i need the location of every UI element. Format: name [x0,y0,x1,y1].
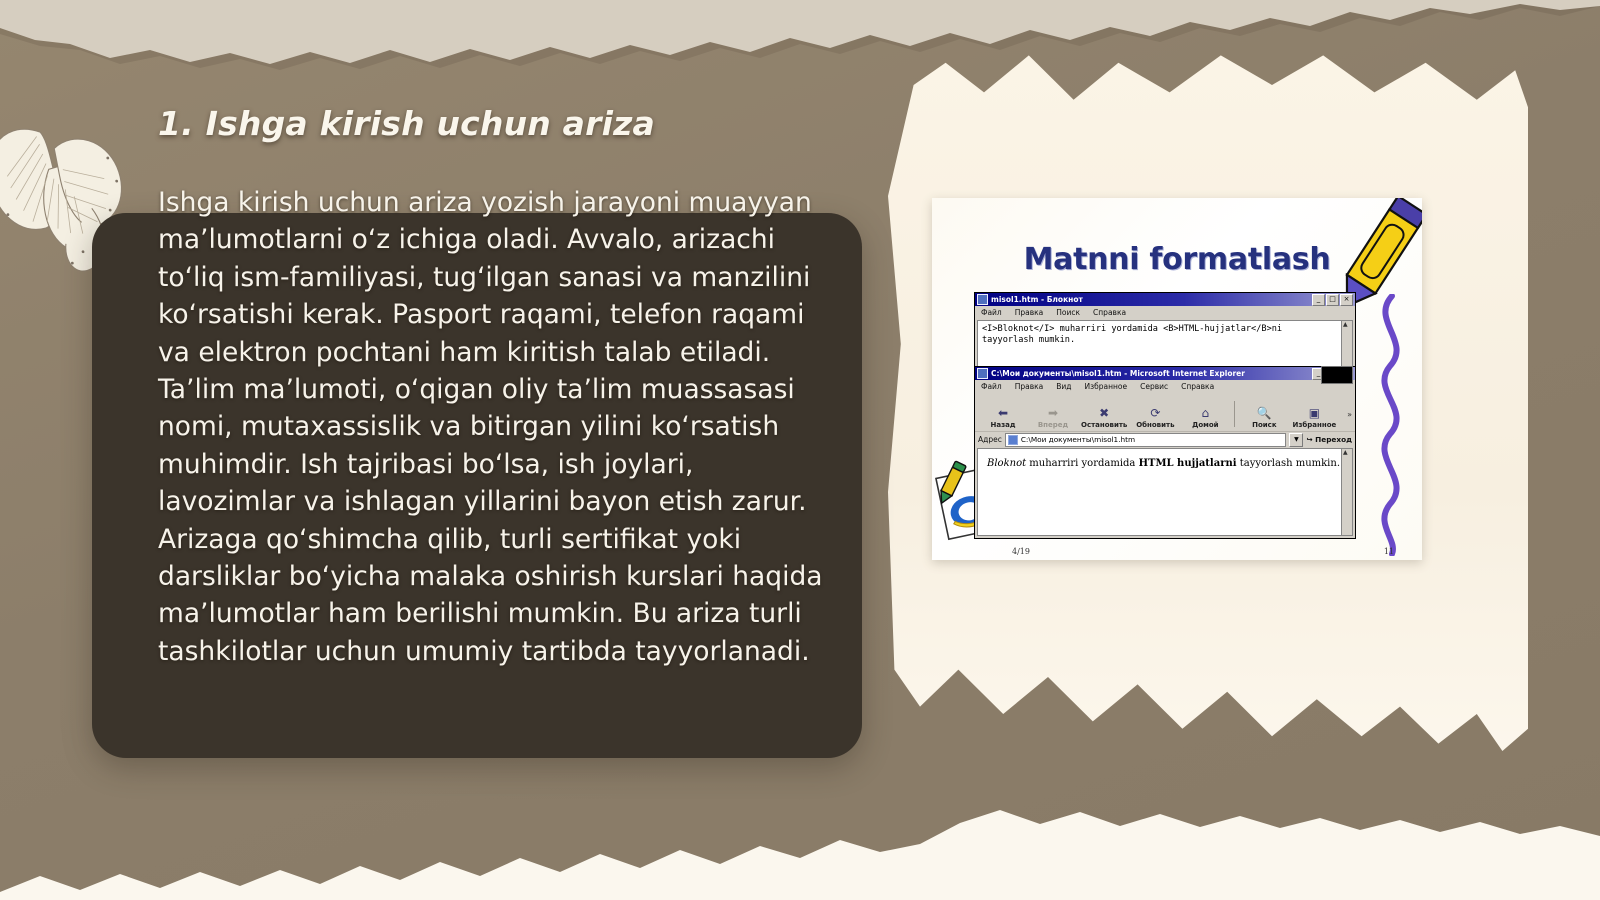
notepad-close-button[interactable]: × [1340,294,1353,306]
browser-menu-help[interactable]: Справка [1181,382,1214,391]
squiggle-decoration [1364,294,1420,556]
browser-title: C:\Мои документы\misol1.htm - Microsoft … [991,369,1309,378]
rendered-html-text: Bloknot muharriri yordamida HTML hujjatl… [978,449,1352,479]
notepad-menu-file[interactable]: Файл [981,308,1002,317]
notepad-app-icon [977,294,988,305]
notepad-menubar[interactable]: Файл Правка Поиск Справка [975,306,1355,319]
search-icon: 🔍 [1257,407,1272,420]
home-icon: ⌂ [1202,407,1210,420]
notepad-menu-search[interactable]: Поиск [1056,308,1080,317]
browser-window[interactable]: C:\Мои документы\misol1.htm - Microsoft … [974,366,1356,539]
toolbar-stop-button[interactable]: ✖ Остановить [1078,407,1130,429]
go-label: Переход [1315,435,1352,444]
favorites-icon: ▣ [1309,407,1320,420]
address-value: C:\Мои документы\misol1.htm [1021,435,1135,444]
toolbar-back-button[interactable]: ⬅ Назад [978,407,1028,429]
page-icon [1008,435,1018,445]
toolbar-back-label: Назад [990,421,1015,429]
embedded-slide-image: Matnni formatlash [932,198,1422,560]
toolbar-search-button[interactable]: 🔍 Поиск [1239,407,1289,429]
browser-address-bar[interactable]: Адрес C:\Мои документы\misol1.htm ▼ ↪ Пе… [975,431,1355,447]
refresh-icon: ⟳ [1150,407,1160,420]
notepad-window[interactable]: misol1.htm - Блокнот _ □ × Файл Правка П… [974,292,1356,377]
forward-arrow-icon: ➡ [1048,407,1058,420]
embedded-page-number-right: 11 [1384,547,1394,556]
browser-app-icon [977,368,988,379]
browser-content-area: Bloknot muharriri yordamida HTML hujjatl… [977,448,1353,536]
go-icon: ↪ [1306,435,1312,444]
slide-canvas: 1. Ishga kirish uchun ariza Ishga kirish… [0,0,1600,900]
notepad-menu-edit[interactable]: Правка [1015,308,1044,317]
toolbar-forward-button[interactable]: ➡ Вперед [1028,407,1078,429]
rendered-bold-text: HTML hujjatlarni [1139,458,1237,469]
notepad-menu-help[interactable]: Справка [1093,308,1126,317]
browser-menu-favorites[interactable]: Избранное [1085,382,1128,391]
browser-menu-edit[interactable]: Правка [1015,382,1044,391]
address-input[interactable]: C:\Мои документы\misol1.htm [1005,433,1287,447]
notepad-content: <I>Bloknot</I> muharriri yordamida <B>HT… [978,321,1352,349]
go-button[interactable]: ↪ Переход [1306,435,1352,444]
toolbar-refresh-label: Обновить [1136,421,1174,429]
address-bar-label: Адрес [978,435,1002,444]
toolbar-home-label: Домой [1192,421,1218,429]
torn-paper-top-shadow [0,0,1600,80]
back-arrow-icon: ⬅ [998,407,1008,420]
browser-scrollbar[interactable] [1341,449,1352,535]
rendered-plain-text-1: muharriri yordamida [1026,458,1138,469]
toolbar-search-label: Поиск [1252,421,1276,429]
notepad-titlebar[interactable]: misol1.htm - Блокнот _ □ × [975,293,1355,306]
notepad-window-buttons[interactable]: _ □ × [1312,294,1353,306]
browser-menu-view[interactable]: Вид [1056,382,1071,391]
browser-titlebar[interactable]: C:\Мои документы\misol1.htm - Microsoft … [975,367,1355,380]
slide-heading: 1. Ishga kirish uchun ariza [158,104,898,143]
browser-toolbar[interactable]: ⬅ Назад ➡ Вперед ✖ Остановить ⟳ Обновить… [975,393,1355,431]
browser-menubar[interactable]: Файл Правка Вид Избранное Сервис Справка [975,380,1355,393]
notepad-title: misol1.htm - Блокнот [991,295,1309,304]
rendered-plain-text-2: tayyorlash mumkin. [1237,458,1340,469]
browser-brand-logo [1321,366,1353,384]
notepad-minimize-button[interactable]: _ [1312,294,1325,306]
stop-icon: ✖ [1099,407,1109,420]
slide-body-text: Ishga kirish uchun ariza yozish jarayoni… [158,184,830,670]
notepad-maximize-button[interactable]: □ [1326,294,1339,306]
browser-menu-file[interactable]: Файл [981,382,1002,391]
toolbar-separator [1234,401,1235,427]
torn-paper-bottom [0,780,1600,900]
toolbar-stop-label: Остановить [1081,421,1127,429]
toolbar-home-button[interactable]: ⌂ Домой [1180,407,1230,429]
toolbar-favorites-label: Избранное [1292,421,1336,429]
toolbar-favorites-button[interactable]: ▣ Избранное [1289,407,1339,429]
rendered-italic-text: Bloknot [987,458,1026,469]
toolbar-forward-label: Вперед [1038,421,1068,429]
embedded-page-number-left: 4/19 [1012,547,1030,556]
address-dropdown-icon[interactable]: ▼ [1289,433,1303,447]
browser-menu-tools[interactable]: Сервис [1140,382,1168,391]
toolbar-refresh-button[interactable]: ⟳ Обновить [1130,407,1180,429]
toolbar-overflow-chevron-icon[interactable]: » [1347,410,1352,419]
